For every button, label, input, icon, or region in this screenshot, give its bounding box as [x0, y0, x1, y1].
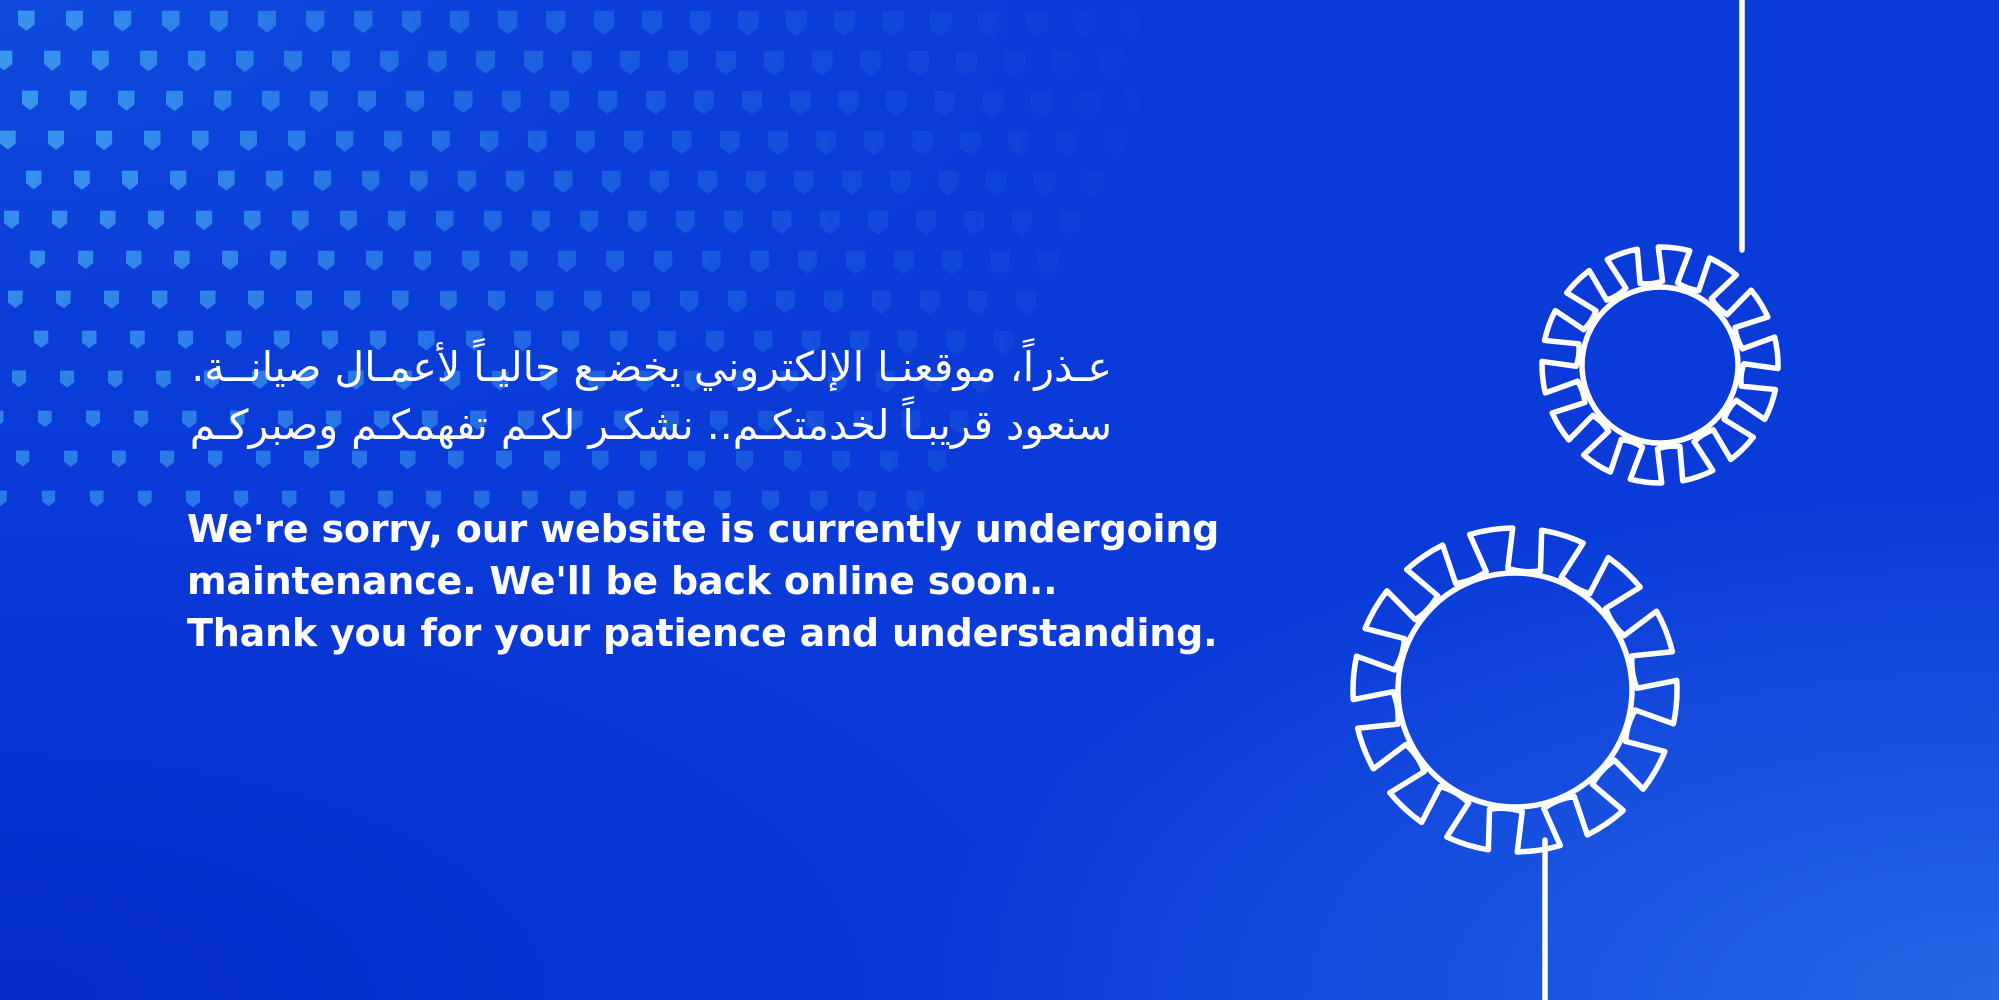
english-line-1: We're sorry, our website is currently un…	[187, 504, 1187, 556]
english-line-2: maintenance. We'll be back online soon..	[187, 556, 1187, 608]
english-message: We're sorry, our website is currently un…	[187, 504, 1187, 659]
arabic-message: عـذراً، موقعنـا الإلكتروني يخضـع حاليـاً…	[187, 338, 1112, 454]
arabic-line-2: سنعود قريبـاً لخدمتكـم.. نشكـر لكـم تفهم…	[187, 396, 1112, 454]
english-line-3: Thank you for your patience and understa…	[187, 608, 1187, 660]
maintenance-page: عـذراً، موقعنـا الإلكتروني يخضـع حاليـاً…	[0, 0, 1999, 1000]
arabic-line-1: عـذراً، موقعنـا الإلكتروني يخضـع حاليـاً…	[187, 338, 1112, 396]
message-block: عـذراً، موقعنـا الإلكتروني يخضـع حاليـاً…	[187, 338, 1187, 659]
